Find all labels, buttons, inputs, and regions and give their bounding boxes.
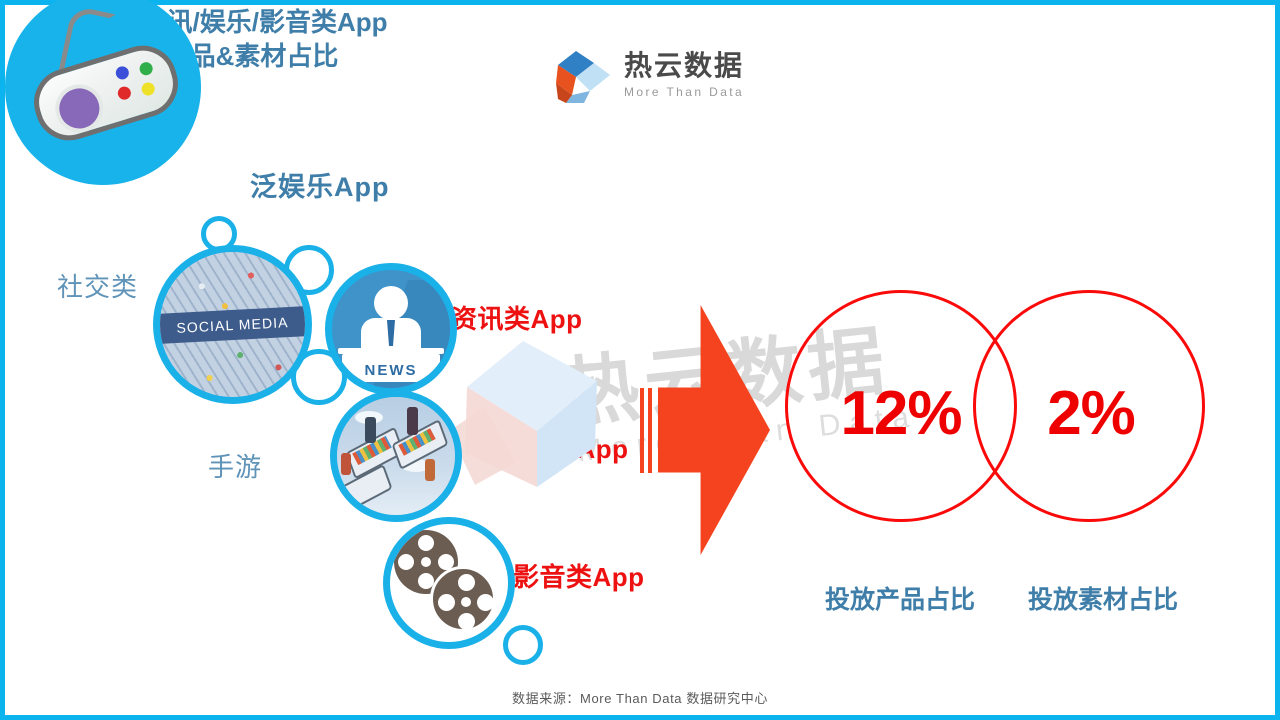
venn-value-creatives: 2% bbox=[1010, 378, 1172, 449]
decorative-ring-bottom bbox=[503, 625, 543, 665]
news-anchor-head-icon bbox=[374, 286, 408, 320]
person-icon-3 bbox=[425, 459, 435, 481]
category-label-social: 社交类 bbox=[57, 267, 138, 304]
logo-mark-icon bbox=[550, 45, 614, 107]
icon-circle-gamepad bbox=[5, 73, 201, 237]
gamepad-button-red bbox=[116, 85, 132, 101]
app-label-news: 资讯类App bbox=[451, 299, 583, 336]
film-reel-hole bbox=[458, 574, 475, 591]
gamepad-dpad-icon bbox=[49, 78, 109, 138]
venn-label-creatives: 投放素材占比 bbox=[1003, 580, 1203, 616]
person-icon-1 bbox=[365, 417, 376, 443]
decorative-cube-graphic bbox=[445, 335, 615, 495]
arrow-body bbox=[658, 305, 770, 555]
gamepad-button-blue bbox=[114, 65, 130, 81]
film-reel-icon-front bbox=[430, 566, 496, 632]
news-desk-caption: NEWS bbox=[332, 362, 450, 379]
person-icon-4 bbox=[341, 453, 351, 475]
film-reel-hub-back bbox=[421, 557, 431, 567]
logo-brand-name: 热云数据 bbox=[624, 51, 744, 81]
arrow-stripe-1 bbox=[640, 388, 644, 473]
venn-value-products: 12% bbox=[820, 378, 982, 449]
film-reel-hole bbox=[477, 594, 494, 611]
icon-circle-social-media: SOCIAL MEDIA bbox=[153, 245, 312, 404]
film-reel-hole bbox=[418, 535, 434, 551]
film-reel-hole bbox=[398, 554, 414, 570]
film-reel-hole bbox=[438, 594, 455, 611]
logo-text-block: 热云数据 More Than Data bbox=[624, 51, 744, 101]
arrow-stripe-2 bbox=[648, 388, 652, 473]
icon-circle-entertainment bbox=[330, 390, 462, 522]
slide-canvas: 热云数据 More Than Data 热云数据 More Than Data … bbox=[0, 0, 1280, 720]
app-label-entertainment: 娱乐类App bbox=[497, 429, 629, 466]
category-label-mobile-game: 手游 bbox=[208, 447, 262, 484]
social-media-banner-text: SOCIAL MEDIA bbox=[176, 314, 289, 336]
icon-circle-news: NEWS bbox=[325, 263, 457, 395]
venn-diagram: 12% 2% bbox=[785, 290, 1205, 525]
film-reel-hole bbox=[458, 613, 475, 630]
gamepad-button-green bbox=[138, 61, 154, 77]
flow-arrow-icon bbox=[640, 305, 770, 555]
app-label-video-audio: 影音类App bbox=[513, 557, 645, 594]
icon-circle-video-audio bbox=[383, 517, 515, 649]
logo-tagline: More Than Data bbox=[624, 83, 744, 101]
venn-label-products: 投放产品占比 bbox=[800, 580, 1000, 616]
brand-logo: 热云数据 More Than Data bbox=[550, 43, 750, 109]
film-reel-hub-front bbox=[461, 597, 471, 607]
gamepad-button-yellow bbox=[140, 81, 156, 97]
section-heading-pan-entertainment: 泛娱乐App bbox=[250, 165, 389, 204]
person-icon-2 bbox=[407, 407, 418, 435]
data-source-footer: 数据来源：More Than Data 数据研究中心 bbox=[5, 688, 1275, 707]
